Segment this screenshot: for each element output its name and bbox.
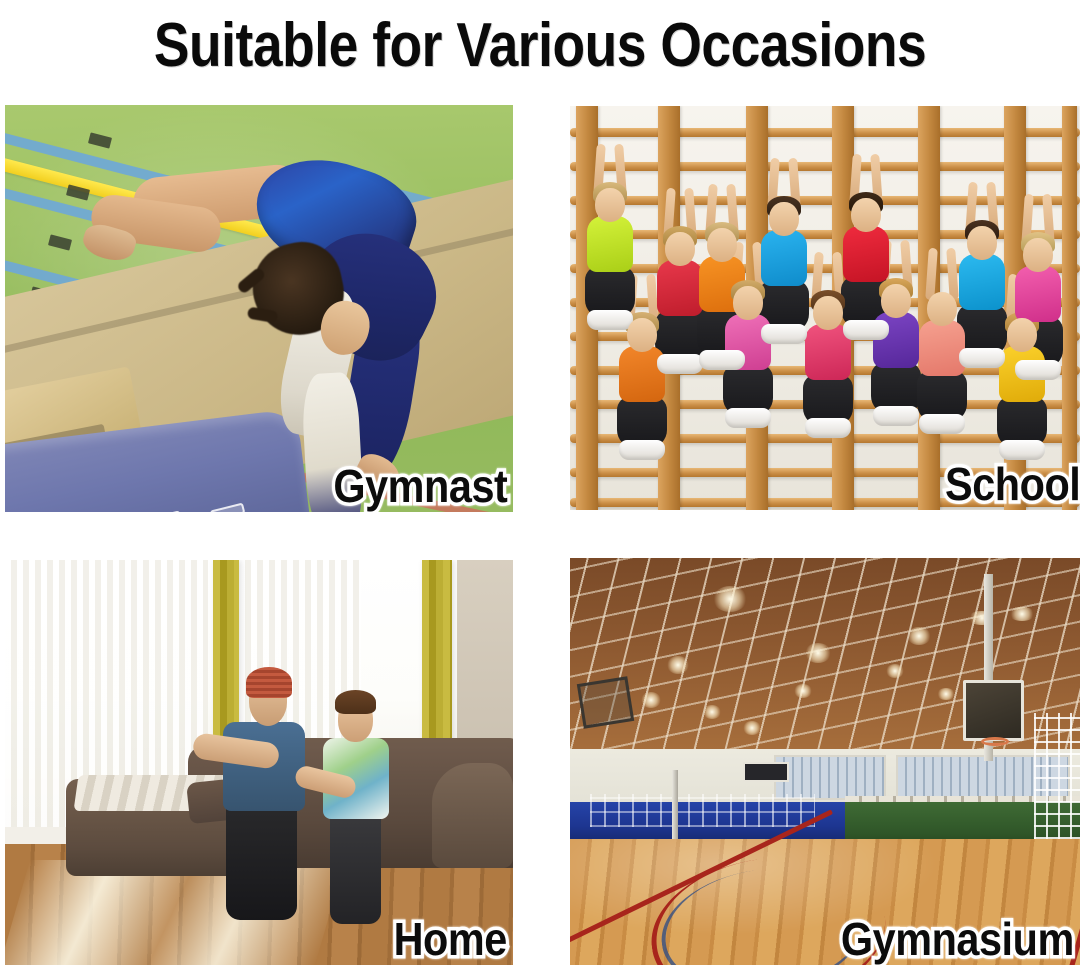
caption-home: Home: [394, 916, 507, 963]
caption-gymnast: Gymnast: [333, 463, 507, 510]
child-shirt: [959, 254, 1005, 310]
basketball-backboard-near: [963, 680, 1024, 741]
boy-legs: [330, 811, 381, 924]
child-head: [967, 226, 997, 260]
photo-home: [5, 560, 513, 965]
child-shoes: [843, 320, 889, 340]
child-shoes: [657, 354, 703, 374]
photo-gymnasium: [570, 558, 1080, 965]
father-beanie: [246, 667, 292, 697]
child-shoes: [699, 350, 745, 370]
basketball-rim: [981, 737, 1009, 746]
child-shoes: [761, 324, 807, 344]
child-head: [927, 292, 957, 326]
panel-home[interactable]: Home: [5, 560, 513, 965]
occasions-infographic: { "header": { "title": "Suitable for Var…: [0, 0, 1080, 975]
child-head: [813, 296, 843, 330]
child-head: [733, 286, 763, 320]
ceiling-downlight: [1009, 607, 1035, 621]
photo-school: [570, 106, 1080, 510]
panel-gymnasium[interactable]: Gymnasium: [570, 558, 1080, 965]
child-shirt: [1015, 266, 1061, 322]
child-head: [881, 284, 911, 318]
ceiling-downlight: [667, 656, 689, 674]
child-shoes: [619, 440, 665, 460]
panel-school[interactable]: School: [570, 106, 1080, 510]
child-shoes: [959, 348, 1005, 368]
child-shirt: [919, 320, 965, 376]
caption-gymnasium: Gymnasium: [841, 916, 1074, 963]
panel-gymnast[interactable]: Gymnast: [5, 105, 513, 512]
ceiling-downlight: [907, 627, 931, 645]
child-shoes: [919, 414, 965, 434]
sofa-armrest: [432, 763, 513, 868]
child-head: [595, 188, 625, 222]
child-shoes: [805, 418, 851, 438]
child-shoes: [999, 440, 1045, 460]
ceiling-downlight: [886, 664, 904, 678]
child-head: [851, 198, 881, 232]
wall-monitor: [743, 762, 789, 782]
child-shirt: [587, 216, 633, 272]
basketball-backboard-far: [577, 676, 634, 728]
mat-clip: [210, 503, 246, 512]
child-head: [627, 318, 657, 352]
page-title: Suitable for Various Occasions: [154, 15, 926, 77]
page-title-bar: Suitable for Various Occasions: [0, 0, 1080, 92]
child-head: [707, 228, 737, 262]
child-shirt: [843, 226, 889, 282]
child-shoes: [587, 310, 633, 330]
caption-school: School: [945, 461, 1080, 508]
boy-hair: [335, 690, 376, 714]
child-shoes: [725, 408, 771, 428]
child-shirt: [619, 346, 665, 402]
child-head: [665, 232, 695, 266]
child-head: [1023, 238, 1053, 272]
child-shoes: [873, 406, 919, 426]
father-legs: [226, 799, 297, 921]
child-head: [769, 202, 799, 236]
child-shirt: [657, 260, 703, 316]
volleyball-net: [590, 794, 814, 827]
wall-bar-upright: [1062, 106, 1077, 510]
child-shoes: [1015, 360, 1061, 380]
child-head: [1007, 318, 1037, 352]
mat-clip: [146, 510, 182, 512]
ceiling-downlight: [703, 705, 721, 719]
photo-gymnast: [5, 105, 513, 512]
child-shirt: [761, 230, 807, 286]
